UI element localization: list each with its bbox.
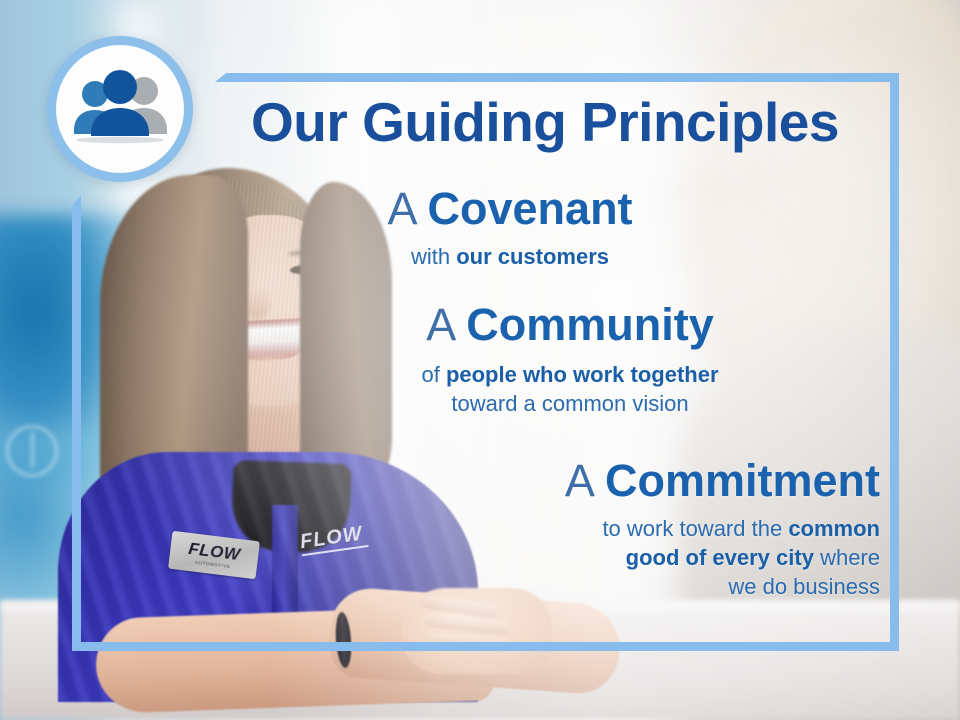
principle-word: Commitment	[605, 455, 880, 506]
principle-lead: A Covenant	[300, 186, 720, 232]
principle-word: Covenant	[428, 183, 633, 234]
principle-subtext: with our customers	[300, 242, 720, 271]
guiding-principles-graphic: FLOW AUTOMOTIVE FLOW	[0, 0, 960, 720]
subtext-run: to work toward the	[602, 516, 788, 541]
subtext-run: with	[411, 244, 456, 269]
principle-article: A	[565, 455, 593, 506]
principle-article: A	[387, 183, 415, 234]
principle-lead: A Community	[330, 302, 810, 348]
principle-subtext: of people who work togethertoward a comm…	[330, 360, 810, 419]
principle-word: Community	[466, 299, 714, 350]
subtext-emphasis: our customers	[456, 244, 609, 269]
subtext-run: toward a common vision	[451, 391, 688, 416]
principle-covenant: A Covenant with our customers	[300, 186, 720, 271]
principle-commitment: A Commitment to work toward the commongo…	[400, 458, 880, 602]
subtext-run: of	[421, 362, 445, 387]
page-title: Our Guiding Principles	[210, 95, 880, 150]
people-group-icon	[68, 70, 172, 148]
subtext-emphasis: common	[788, 516, 880, 541]
principle-lead: A Commitment	[400, 458, 880, 504]
subtext-run: where	[814, 545, 880, 570]
subtext-emphasis: good of every city	[626, 545, 814, 570]
principle-subtext: to work toward the commongood of every c…	[400, 514, 880, 602]
subtext-emphasis: people who work together	[446, 362, 719, 387]
principle-article: A	[426, 299, 454, 350]
people-badge	[47, 36, 193, 182]
principle-community: A Community of people who work togethert…	[330, 302, 810, 418]
subtext-run: we do business	[728, 574, 880, 599]
